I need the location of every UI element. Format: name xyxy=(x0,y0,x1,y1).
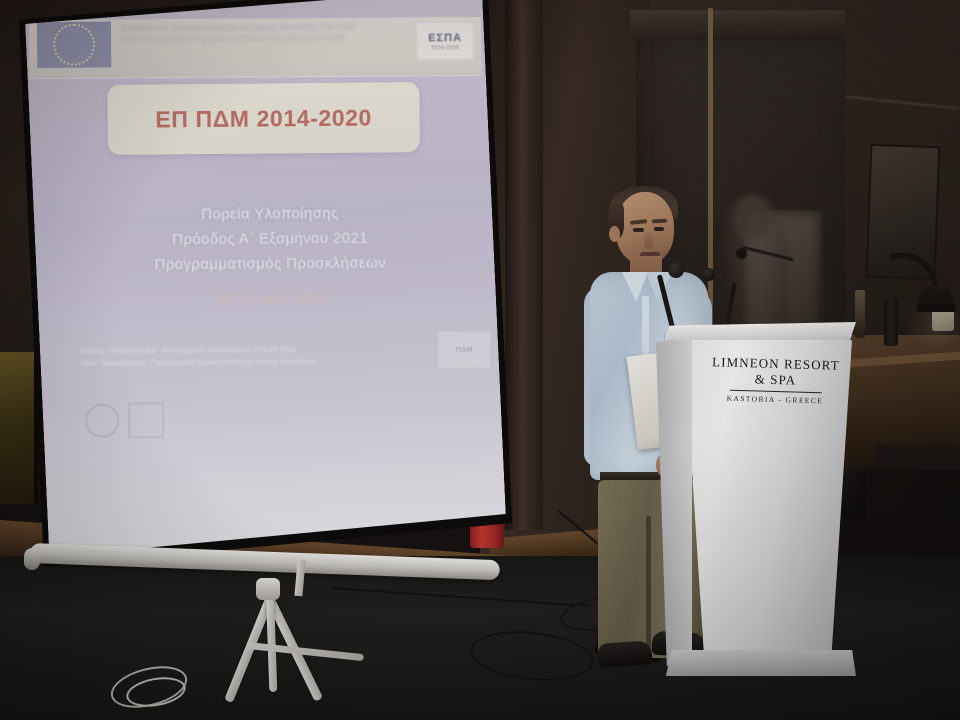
slide-credits: Ιωάννης Παπαδόπουλος - Αναπληρωτής Προϊσ… xyxy=(80,344,480,371)
sign-divider xyxy=(729,390,821,394)
subtitle-line-2: Πρόοδος Α΄ Εξαμήνου 2021 xyxy=(85,225,455,253)
eyebrow xyxy=(652,219,667,224)
eye xyxy=(654,227,664,231)
subtitle-line-1: Πορεία Υλοποίησης xyxy=(85,200,455,228)
credit-line-2: Ηλίας Μακρυγιάννης - Περιφερειακός Ταμεί… xyxy=(80,356,480,371)
slide-footer-logo-right: ΠΔΜ xyxy=(438,331,490,367)
slide-header-band: Επιχειρησιακό Πρόγραμμα Περιφέρειας Δυτι… xyxy=(29,17,481,78)
screen-roller-cap xyxy=(24,548,41,571)
candle-holder xyxy=(855,290,865,338)
podium-base xyxy=(664,650,856,676)
slide-footer-logos xyxy=(85,397,195,444)
lamp-shade xyxy=(916,286,956,312)
presentation-slide: Επιχειρησιακό Πρόγραμμα Περιφέρειας Δυτι… xyxy=(24,0,501,436)
photo-scene: C xyxy=(0,0,960,720)
tripod-hub xyxy=(256,578,280,600)
subtitle-line-3: Προγραμματισμός Προσκλήσεων xyxy=(85,250,455,278)
projector-screen: Επιχειρησιακό Πρόγραμμα Περιφέρειας Δυτι… xyxy=(8,0,535,599)
slide-subtitle: Πορεία Υλοποίησης Πρόοδος Α΄ Εξαμήνου 20… xyxy=(85,200,456,278)
espa-logo-title: ΕΣΠΑ xyxy=(428,32,462,44)
eye xyxy=(633,228,644,232)
slide-title-box: ΕΠ ΠΔΜ 2014-2020 xyxy=(107,82,420,155)
credenza xyxy=(840,335,960,445)
eu-stars-icon xyxy=(53,24,95,66)
slide-date: 19-22 Ιουλ. 2021 xyxy=(88,289,458,308)
glass-reflection-head xyxy=(734,196,770,240)
slide-header-text: Επιχειρησιακό Πρόγραμμα Περιφέρειας Δυτι… xyxy=(121,21,421,45)
espa-logo-years: 2014-2020 xyxy=(431,45,459,51)
trouser-seam xyxy=(646,516,651,656)
espa-logo: ΕΣΠΑ 2014-2020 xyxy=(417,23,473,59)
microphone-icon xyxy=(668,262,684,278)
nose xyxy=(644,232,653,249)
ear xyxy=(609,226,620,242)
glass-partition-header xyxy=(630,10,870,40)
header-line-english: Regional Operational Programme of Wester… xyxy=(121,32,421,45)
slide-title: ΕΠ ΠΔΜ 2014-2020 xyxy=(155,104,372,133)
venue-name: LIMNEON RESORT & SPA xyxy=(708,354,844,390)
screen-surface: Επιχειρησιακό Πρόγραμμα Περιφέρειας Δυτι… xyxy=(24,0,507,560)
lamp-base xyxy=(884,300,898,346)
microphone-icon-secondary xyxy=(702,268,715,281)
eu-flag-icon xyxy=(37,21,111,68)
glass-reflection-microphone-head xyxy=(736,248,747,259)
shoe xyxy=(597,640,653,668)
greek-republic-logo xyxy=(85,404,119,438)
region-logo xyxy=(128,402,164,438)
podium-sign: LIMNEON RESORT & SPA KASTORIA - GREECE xyxy=(707,354,843,406)
